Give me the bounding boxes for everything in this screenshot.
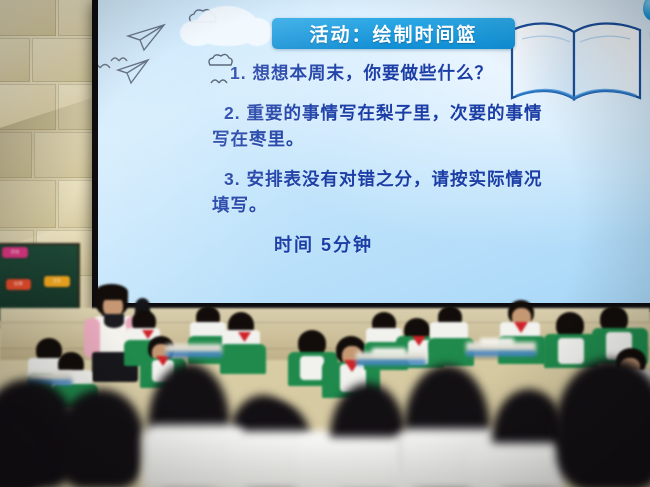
slide-line-5: 填写。 (98, 192, 650, 218)
placard-2-label: 纪律 (6, 279, 31, 288)
projection-screen: 活动：绘制时间篮 1. 想想本周末，你要做些什么？ 2. 重要的事情写在梨子里，… (98, 0, 650, 303)
placard-2: 纪律 (6, 279, 31, 290)
placard-3: 卫生 (44, 276, 70, 287)
slide-line-2: 2. 重要的事情写在梨子里，次要的事情 (98, 100, 650, 126)
placard-3-label: 卫生 (44, 276, 70, 285)
classroom-photo: 活动 纪律 卫生 (0, 0, 650, 487)
chair-back (470, 443, 566, 487)
placard-1-label: 活动 (2, 247, 28, 256)
slide-line-1: 1. 想想本周末，你要做些什么？ (98, 60, 650, 86)
slide-line-3: 写在枣里。 (98, 126, 650, 152)
desk-edge (466, 351, 536, 356)
audience-head (556, 359, 650, 487)
desk-edge (166, 352, 222, 357)
placard-1: 活动 (2, 247, 28, 258)
slide-title-banner: 活动：绘制时间篮 (272, 18, 515, 49)
paper-airplane-icon (126, 22, 168, 54)
desk-edge (356, 360, 426, 365)
cloud-icon (194, 6, 260, 46)
slide-time-note: 时间 5分钟 (98, 232, 650, 258)
audience-head (58, 389, 144, 487)
audience-foreground (0, 367, 650, 487)
worksheet (372, 348, 406, 355)
worksheet (480, 338, 514, 345)
slide-title: 活动：绘制时间篮 (309, 20, 477, 47)
slide-line-4: 3. 安排表没有对错之分，请按实际情况 (98, 166, 650, 192)
slide-body: 1. 想想本周末，你要做些什么？ 2. 重要的事情写在梨子里，次要的事情 写在枣… (98, 60, 650, 258)
